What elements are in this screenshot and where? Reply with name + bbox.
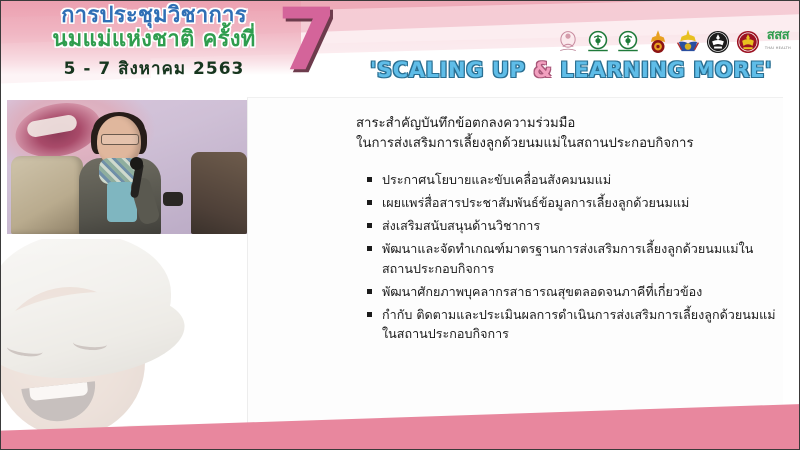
list-item: กำกับ ติดตามและประเมินผลการดำเนินการส่งเ… <box>366 305 776 344</box>
tagline-ampersand: & <box>533 58 552 82</box>
list-item: เผยแพร่สื่อสารประชาสัมพันธ์ข้อมูลการเลี้… <box>366 193 776 213</box>
conference-title-line1: การประชุมวิชาการ <box>19 3 289 28</box>
speaker-glasses <box>101 134 139 145</box>
smiling-child-in-hat-photo <box>1 239 247 450</box>
content-panel: สาระสำคัญบันทึกข้อตกลงความร่วมมือ ในการส… <box>247 97 783 431</box>
green-health-circle-logo-2 <box>615 29 641 55</box>
bullet-text: พัฒนาศักยภาพบุคลากรสาธารณสุขตลอดจนภาคีที… <box>382 284 702 299</box>
chair-right <box>191 152 247 234</box>
bottom-band-base <box>1 437 800 449</box>
child-photo-inner <box>1 239 247 450</box>
bullet-text: ประกาศนโยบายและขับเคลื่อนสังคมนมแม่ <box>382 172 611 187</box>
conference-title-line2: นมแม่แห่งชาติ ครั้งที่ <box>19 27 289 52</box>
list-item: พัฒนาศักยภาพบุคลากรสาธารณสุขตลอดจนภาคีที… <box>366 282 776 302</box>
black-circle-crest-logo <box>705 29 731 55</box>
conference-title-block: การประชุมวิชาการ นมแม่แห่งชาติ ครั้งที่ … <box>19 3 289 82</box>
thaihealth-logo-sublabel: THAI HEALTH <box>765 42 791 54</box>
speaker-on-stage-video-still <box>7 100 247 234</box>
content-heading-line1: สาระสำคัญบันทึกข้อตกลงความร่วมมือ <box>356 114 776 134</box>
content-heading: สาระสำคัญบันทึกข้อตกลงความร่วมมือ ในการส… <box>356 114 776 154</box>
green-health-circle-logo-1 <box>585 29 611 55</box>
presentation-slide: การประชุมวิชาการ นมแม่แห่งชาติ ครั้งที่ … <box>0 0 800 450</box>
partner-logos-strip: สสส THAI HEALTH <box>555 27 791 57</box>
content-bullet-list: ประกาศนโยบายและขับเคลื่อนสังคมนมแม่ เผยแ… <box>366 170 776 347</box>
tagline-text-part2: LEARNING MORE' <box>552 58 772 82</box>
tagline-text-part1: 'SCALING UP <box>370 58 534 82</box>
square-bullet-icon <box>367 289 372 294</box>
content-heading-line2: ในการส่งเสริมการเลี้ยงลูกด้วยนมแม่ในสถาน… <box>356 134 776 154</box>
list-item: ส่งเสริมสนับสนุนด้านวิชาการ <box>366 216 776 236</box>
list-item: พัฒนาและจัดทำเกณฑ์มาตรฐานการส่งเสริมการเ… <box>366 239 776 278</box>
bullet-text: กำกับ ติดตามและประเมินผลการดำเนินการส่งเ… <box>382 307 776 342</box>
edition-number-seven: 7 <box>277 0 337 83</box>
red-shield-crest-logo <box>735 29 761 55</box>
square-bullet-icon <box>367 200 372 205</box>
chair-left <box>11 156 83 234</box>
media-column <box>1 97 247 450</box>
square-bullet-icon <box>367 312 372 317</box>
bullet-text: เผยแพร่สื่อสารประชาสัมพันธ์ข้อมูลการเลี้… <box>382 195 689 210</box>
microphone-head <box>130 157 143 170</box>
thaihealth-sss-logo: สสส THAI HEALTH <box>765 30 791 54</box>
square-bullet-icon <box>367 246 372 251</box>
bullet-text: พัฒนาและจัดทำเกณฑ์มาตรฐานการส่งเสริมการเ… <box>382 241 753 276</box>
speaker-clicker-hand <box>163 192 183 206</box>
conference-tagline: 'SCALING UP & LEARNING MORE' <box>353 58 789 82</box>
royal-garuda-crest-logo <box>675 29 701 55</box>
list-item: ประกาศนโยบายและขับเคลื่อนสังคมนมแม่ <box>366 170 776 190</box>
square-bullet-icon <box>367 177 372 182</box>
conference-date: 5 - 7 สิงหาคม 2563 <box>19 55 289 82</box>
royal-crest-logo-1 <box>645 29 671 55</box>
mother-child-emblem-logo <box>555 29 581 55</box>
thaihealth-logo-label: สสส <box>767 28 789 43</box>
bullet-text: ส่งเสริมสนับสนุนด้านวิชาการ <box>382 218 540 233</box>
square-bullet-icon <box>367 223 372 228</box>
